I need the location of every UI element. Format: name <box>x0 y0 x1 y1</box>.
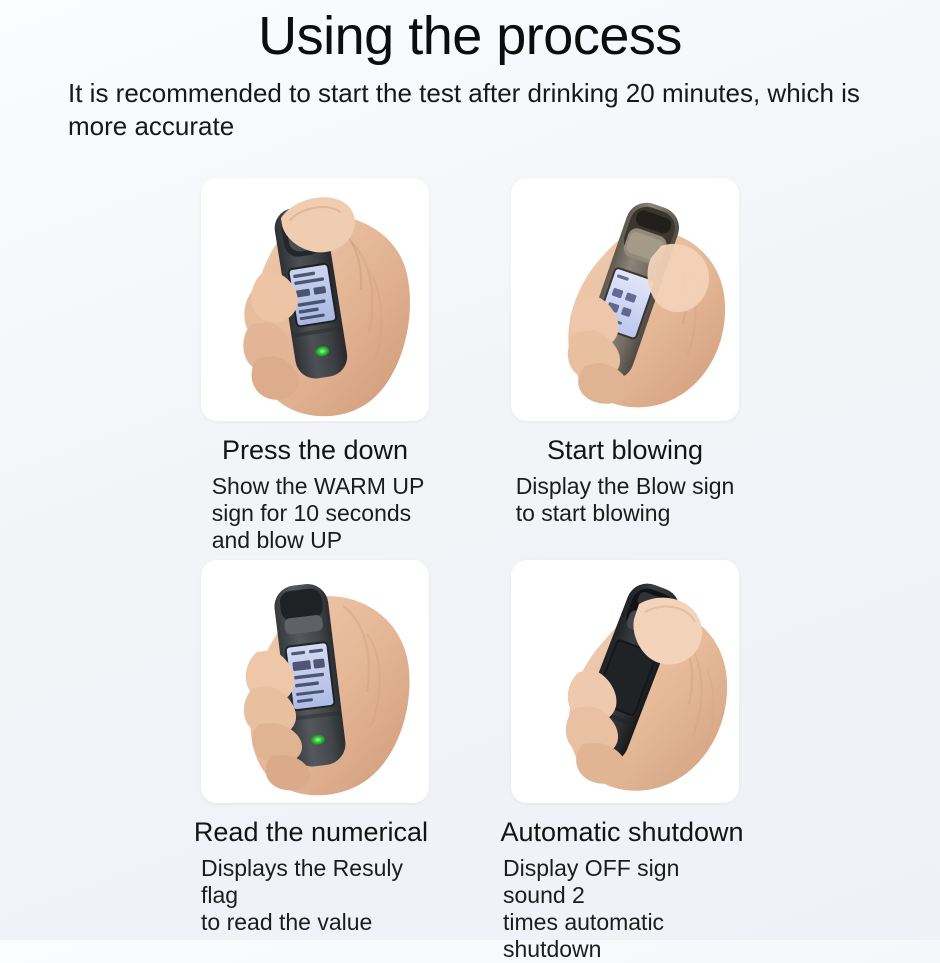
step-heading-1: Press the down <box>222 435 408 465</box>
breathalyzer-upright-illustration <box>201 178 429 421</box>
breathalyzer-off-illustration <box>511 560 739 803</box>
step-photo-4 <box>511 560 739 803</box>
step-photo-1 <box>201 178 429 421</box>
breathalyzer-blowing-illustration <box>511 178 739 421</box>
step-card-3: Read the numerical Displays the Resuly f… <box>201 560 429 963</box>
step-card-2: Start blowing Display the Blow sign to s… <box>511 178 739 554</box>
breathalyzer-result-illustration <box>201 560 429 803</box>
page-title: Using the process <box>0 8 940 65</box>
header: Using the process It is recommended to s… <box>0 0 940 143</box>
step-body-3: Displays the Resuly flag to read the val… <box>201 855 429 936</box>
step-heading-2: Start blowing <box>547 435 703 465</box>
step-body-1: Show the WARM UP sign for 10 seconds and… <box>212 473 425 554</box>
steps-row-bottom: Read the numerical Displays the Resuly f… <box>0 560 940 963</box>
step-body-2: Display the Blow sign to start blowing <box>516 473 735 527</box>
step-photo-3 <box>201 560 429 803</box>
steps-row-top: Press the down Show the WARM UP sign for… <box>0 178 940 554</box>
page-subtitle: It is recommended to start the test afte… <box>68 77 883 144</box>
infographic-page: Using the process It is recommended to s… <box>0 0 940 940</box>
step-heading-3: Read the numerical <box>194 817 428 847</box>
steps-grid: Press the down Show the WARM UP sign for… <box>0 178 940 963</box>
step-card-1: Press the down Show the WARM UP sign for… <box>201 178 429 554</box>
step-heading-4: Automatic shutdown <box>500 817 743 847</box>
step-card-4: Automatic shutdown Display OFF sign soun… <box>511 560 739 963</box>
step-body-4: Display OFF sign sound 2 times automatic… <box>503 855 739 963</box>
step-photo-2 <box>511 178 739 421</box>
